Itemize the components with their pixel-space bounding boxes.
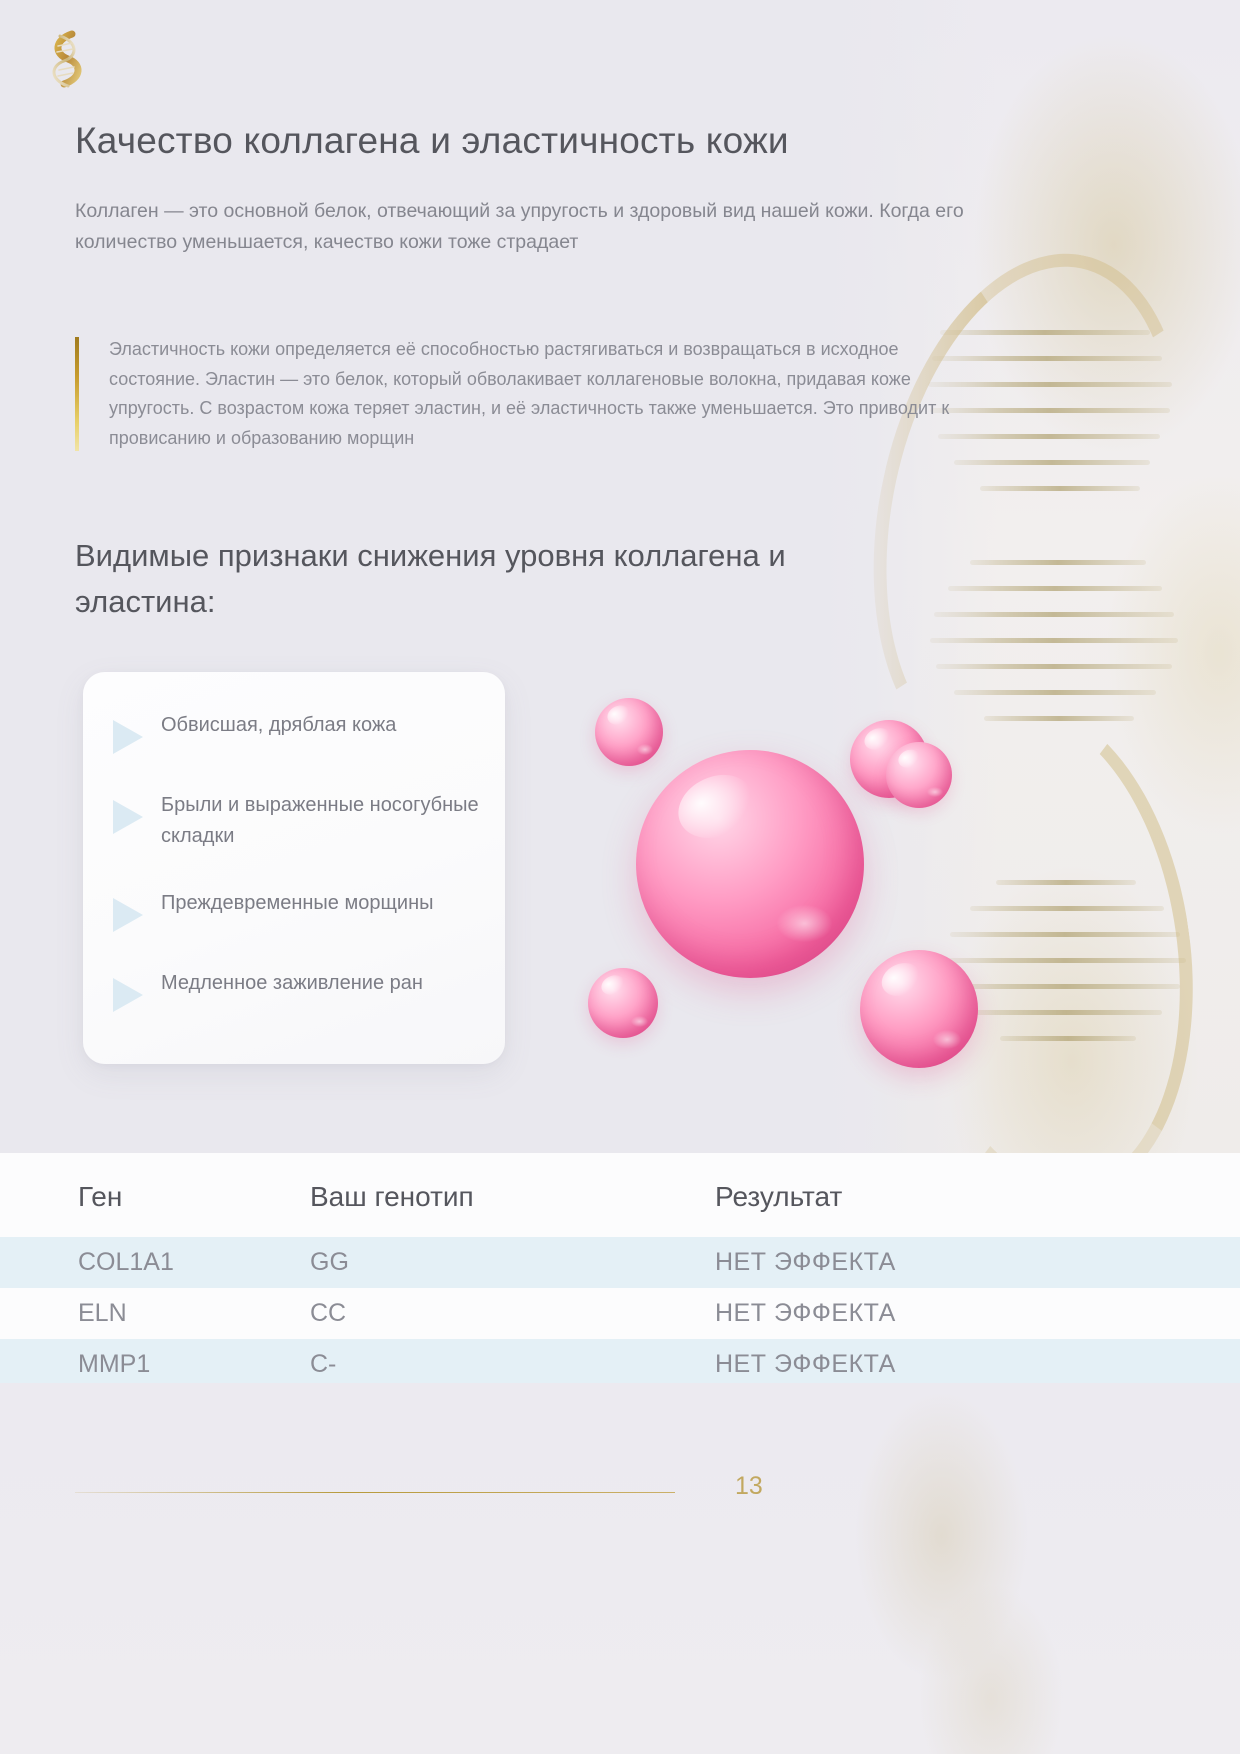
page-canvas: Качество коллагена и эластичность кожи К… — [0, 0, 1240, 1754]
cell-result: НЕТ ЭФФЕКТА — [715, 1288, 1240, 1339]
gold-accent-bar — [75, 337, 79, 451]
list-item-label: Преждевременные морщины — [161, 884, 434, 919]
genotype-table: Ген Ваш генотип Результат COL1A1 GG НЕТ … — [0, 1153, 1240, 1390]
table-header-row: Ген Ваш генотип Результат — [0, 1153, 1240, 1237]
table-row: ELN CC НЕТ ЭФФЕКТА — [0, 1288, 1240, 1339]
bubble-bottom-left — [588, 968, 658, 1038]
cell-result: НЕТ ЭФФЕКТА — [715, 1237, 1240, 1288]
list-item: Преждевременные морщины — [105, 884, 479, 932]
section-subtitle: Видимые признаки снижения уровня коллаге… — [75, 533, 895, 625]
cell-gene: COL1A1 — [0, 1237, 310, 1288]
signs-card: Обвисшая, дряблая кожа Брыли и выраженны… — [83, 672, 505, 1064]
list-item-label: Медленное заживление ран — [161, 964, 423, 999]
cell-genotype: GG — [310, 1237, 715, 1288]
cell-genotype: CC — [310, 1288, 715, 1339]
arrow-bullet-icon — [113, 720, 143, 754]
arrow-bullet-icon — [113, 800, 143, 834]
bubble-top-right-small — [886, 742, 952, 808]
footer-rule — [75, 1492, 675, 1493]
list-item: Обвисшая, дряблая кожа — [105, 706, 479, 754]
cell-gene: ELN — [0, 1288, 310, 1339]
list-item: Брыли и выраженные носогубные складки — [105, 786, 479, 852]
bubble-bottom-right — [860, 950, 978, 1068]
page-number: 13 — [735, 1472, 763, 1501]
highlight-quote: Эластичность кожи определяется её способ… — [75, 335, 975, 453]
bubble-small-top-left — [595, 698, 663, 766]
genotype-table-wrapper: Ген Ваш генотип Результат COL1A1 GG НЕТ … — [0, 1153, 1240, 1420]
lead-paragraph: Коллаген — это основной белок, отвечающи… — [75, 196, 995, 258]
arrow-bullet-icon — [113, 978, 143, 1012]
column-header-genotype: Ваш генотип — [310, 1153, 715, 1237]
column-header-result: Результат — [715, 1153, 1240, 1237]
bubble-main — [636, 750, 864, 978]
list-item: Медленное заживление ран — [105, 964, 479, 1012]
list-item-label: Обвисшая, дряблая кожа — [161, 706, 396, 741]
table-row: COL1A1 GG НЕТ ЭФФЕКТА — [0, 1237, 1240, 1288]
list-item-label: Брыли и выраженные носогубные складки — [161, 786, 479, 852]
arrow-bullet-icon — [113, 898, 143, 932]
footer-dna-background — [760, 1390, 1090, 1754]
pink-collagen-bubbles-illustration — [540, 650, 1100, 1120]
quote-text: Эластичность кожи определяется её способ… — [109, 335, 975, 453]
column-header-gene: Ген — [0, 1153, 310, 1237]
dna-helix-logo-icon — [38, 26, 94, 92]
page-title: Качество коллагена и эластичность кожи — [75, 120, 975, 162]
